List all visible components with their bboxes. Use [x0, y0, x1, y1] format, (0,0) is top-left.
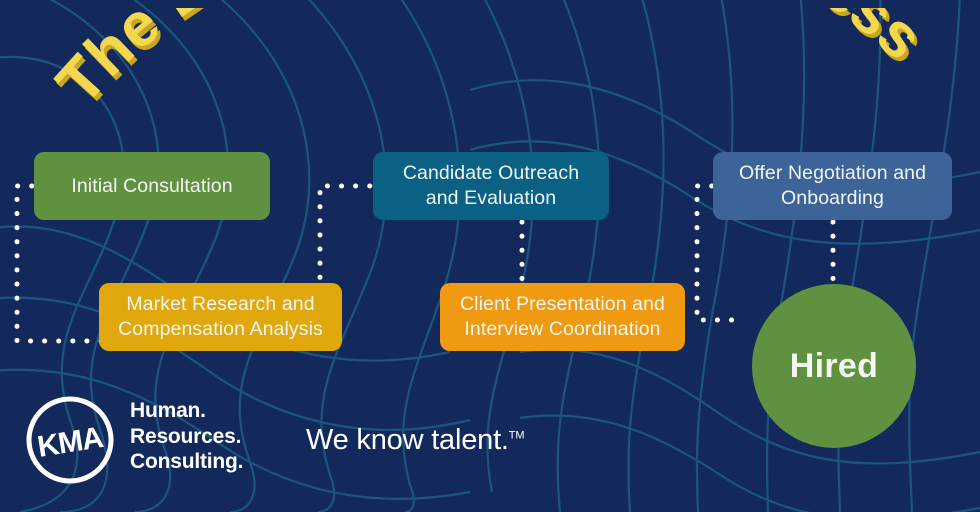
- step-node-client-presentation[interactable]: Client Presentation and Interview Coordi…: [440, 283, 685, 351]
- step-node-candidate-outreach[interactable]: Candidate Outreach and Evaluation: [373, 152, 609, 220]
- step-label: Initial Consultation: [71, 174, 232, 199]
- brand-line-human: Human.: [130, 398, 243, 424]
- step-label: Client Presentation and Interview Coordi…: [454, 292, 671, 342]
- tagline-text: We know talent.: [306, 424, 509, 456]
- outcome-badge-hired[interactable]: Hired: [752, 284, 916, 448]
- brand-line-consulting: Consulting.: [130, 449, 243, 475]
- infographic-canvas: The Executive Search Process The Executi…: [0, 0, 980, 512]
- outcome-label: Hired: [790, 347, 878, 386]
- brand-tagline: We know talent.TM: [306, 424, 524, 457]
- brand-line-resources: Resources.: [130, 424, 243, 450]
- step-label: Market Research and Compensation Analysi…: [113, 292, 328, 342]
- trademark-symbol: TM: [509, 429, 524, 441]
- step-node-initial-consultation[interactable]: Initial Consultation: [34, 152, 270, 220]
- kma-logo-icon: KMA: [24, 394, 116, 486]
- step-label: Offer Negotiation and Onboarding: [727, 161, 938, 211]
- step-node-market-research[interactable]: Market Research and Compensation Analysi…: [99, 283, 342, 351]
- step-label: Candidate Outreach and Evaluation: [387, 161, 595, 211]
- brand-wordmark: Human. Resources. Consulting.: [130, 398, 243, 475]
- step-node-offer-negotiation[interactable]: Offer Negotiation and Onboarding: [713, 152, 952, 220]
